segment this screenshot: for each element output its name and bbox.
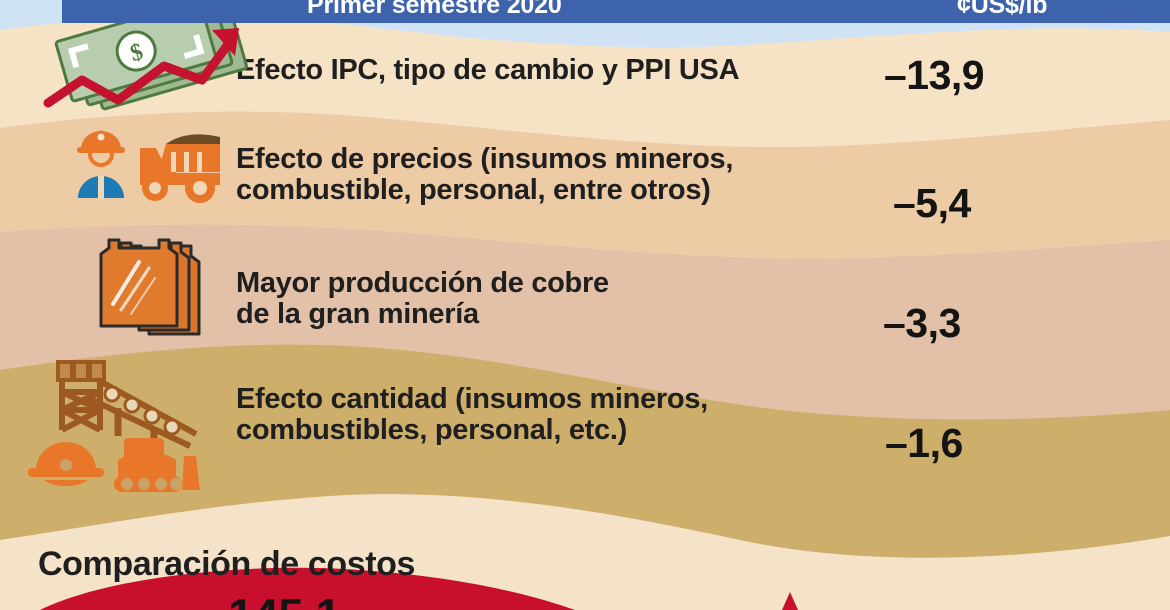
row-label-2-line2: combustible, personal, entre otros) bbox=[236, 175, 733, 206]
money-bills-rising-arrow-icon: $ bbox=[34, 8, 249, 118]
comparison-title: Comparación de costos bbox=[38, 545, 415, 584]
unit-label: ¢US$/lb bbox=[957, 0, 1047, 20]
row-label-4-line1: Efecto cantidad (insumos mineros, bbox=[236, 384, 708, 415]
infographic-canvas: Primer semestre 2020 ¢US$/lb $ Efecto IP… bbox=[0, 0, 1170, 610]
row-label-2: Efecto de precios (insumos mineros, comb… bbox=[236, 144, 733, 205]
row-label-4: Efecto cantidad (insumos mineros, combus… bbox=[236, 384, 708, 445]
row-value-2: –5,4 bbox=[893, 180, 971, 227]
copper-cathode-sheets-icon bbox=[95, 238, 207, 348]
row-label-3: Mayor producción de cobre de la gran min… bbox=[236, 268, 609, 329]
mining-tower-helmet-bulldozer-icon bbox=[14, 358, 219, 505]
row-label-3-line2: de la gran minería bbox=[236, 299, 609, 330]
row-label-1-line1: Efecto IPC, tipo de cambio y PPI USA bbox=[236, 54, 739, 86]
header-bar: Primer semestre 2020 ¢US$/lb bbox=[62, 0, 1170, 23]
row-label-4-line2: combustibles, personal, etc.) bbox=[236, 415, 708, 446]
row-label-2-line1: Efecto de precios (insumos mineros, bbox=[236, 144, 733, 175]
row-value-4: –1,6 bbox=[885, 420, 963, 467]
row-label-3-line1: Mayor producción de cobre bbox=[236, 268, 609, 299]
comparison-value: 145,1 bbox=[228, 588, 341, 610]
page-title: Primer semestre 2020 bbox=[307, 0, 562, 20]
row-label-1: Efecto IPC, tipo de cambio y PPI USA bbox=[236, 55, 739, 86]
miner-and-dump-truck-icon bbox=[70, 128, 220, 215]
row-value-3: –3,3 bbox=[883, 300, 961, 347]
row-value-1: –13,9 bbox=[884, 52, 984, 99]
